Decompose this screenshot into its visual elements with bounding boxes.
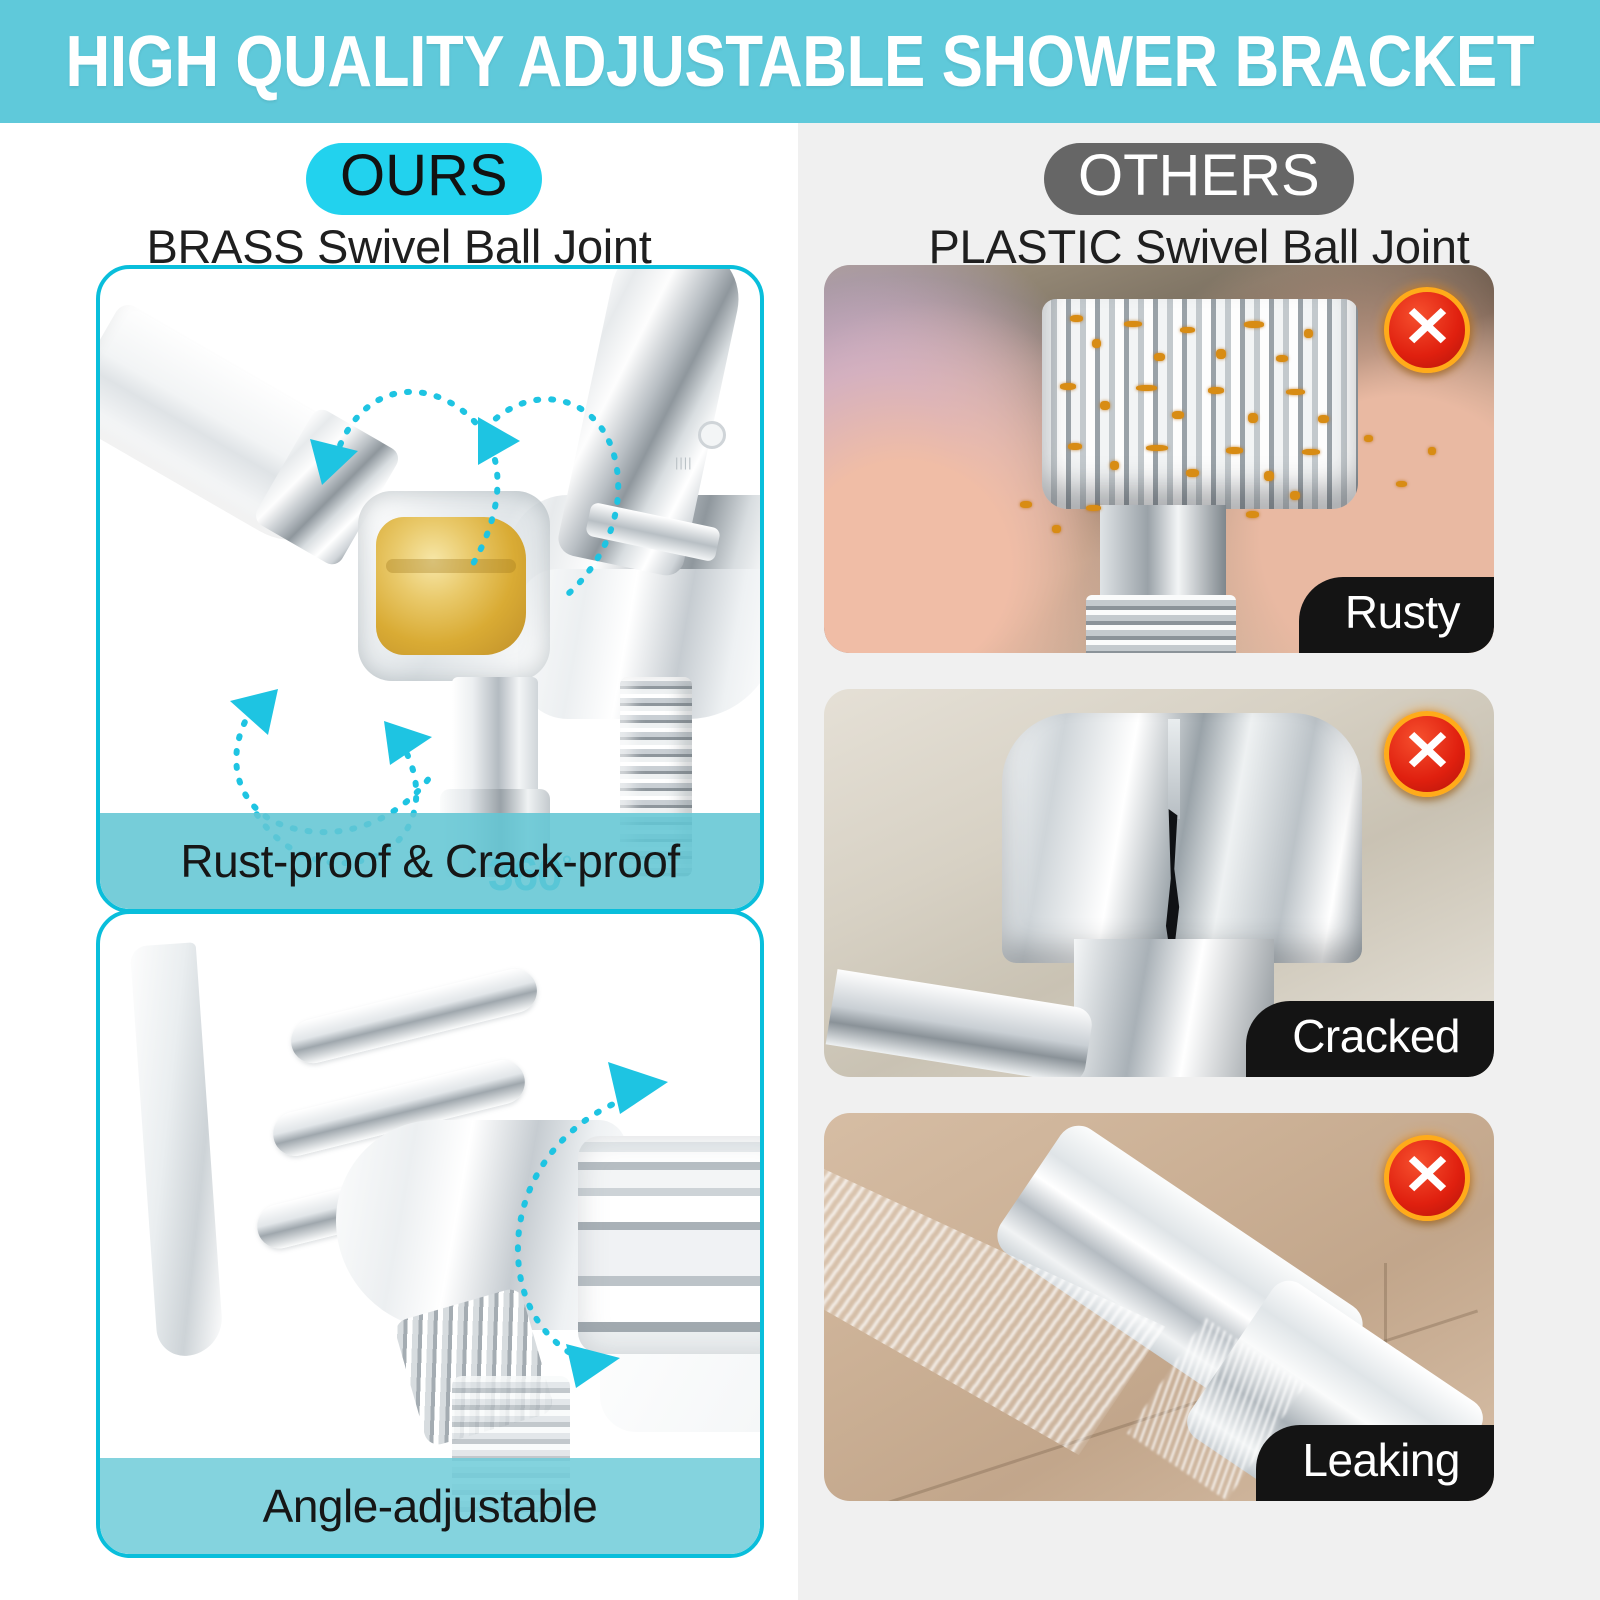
red-x-badge-icon: ✕	[1384, 711, 1470, 797]
plastic-joint-cap	[1002, 713, 1362, 963]
others-photo-flag: Rusty	[1299, 577, 1494, 653]
shower-bracket-comparison-infographic: HIGH QUALITY ADJUSTABLE SHOWER BRACKET O…	[0, 0, 1600, 1600]
others-pill-label: OTHERS	[1078, 147, 1320, 205]
x-mark: ✕	[1402, 723, 1452, 779]
joint-body	[1074, 939, 1274, 1077]
others-photo-flag: Leaking	[1256, 1425, 1494, 1501]
others-column: OTHERS PLASTIC Swivel Ball Joint	[798, 123, 1600, 1600]
ours-card-rustproof: ||||	[96, 265, 764, 913]
others-photo-cracked: ✕ Cracked	[824, 689, 1494, 1077]
page-title: HIGH QUALITY ADJUSTABLE SHOWER BRACKET	[66, 21, 1535, 103]
ours-card-caption: Rust-proof & Crack-proof	[100, 813, 760, 909]
ours-card-caption: Angle-adjustable	[100, 1458, 760, 1554]
ours-pill: OURS	[306, 143, 542, 215]
red-x-badge-icon: ✕	[1384, 1135, 1470, 1221]
ours-column: OURS BRASS Swivel Ball Joint ||||	[0, 123, 798, 1600]
ours-card-angle-adjustable: Angle-adjustable	[96, 910, 764, 1558]
handle-button-icon	[698, 421, 726, 449]
ours-pill-label: OURS	[340, 147, 508, 205]
handle-marking: ||||	[675, 455, 721, 471]
others-photo-leaking: ✕ Leaking	[824, 1113, 1494, 1501]
brass-ball-joint	[376, 517, 526, 655]
others-photo-flag: Cracked	[1246, 1001, 1494, 1077]
red-x-badge-icon: ✕	[1384, 287, 1470, 373]
header-banner: HIGH QUALITY ADJUSTABLE SHOWER BRACKET	[0, 0, 1600, 123]
knurled-adjuster	[578, 1136, 764, 1354]
others-pill: OTHERS	[1044, 143, 1354, 215]
x-mark: ✕	[1402, 1147, 1452, 1203]
x-mark: ✕	[1402, 299, 1452, 355]
comparison-body: OURS BRASS Swivel Ball Joint ||||	[0, 123, 1600, 1600]
crack-upper	[1168, 719, 1180, 819]
others-photo-rusty: ✕ Rusty	[824, 265, 1494, 653]
